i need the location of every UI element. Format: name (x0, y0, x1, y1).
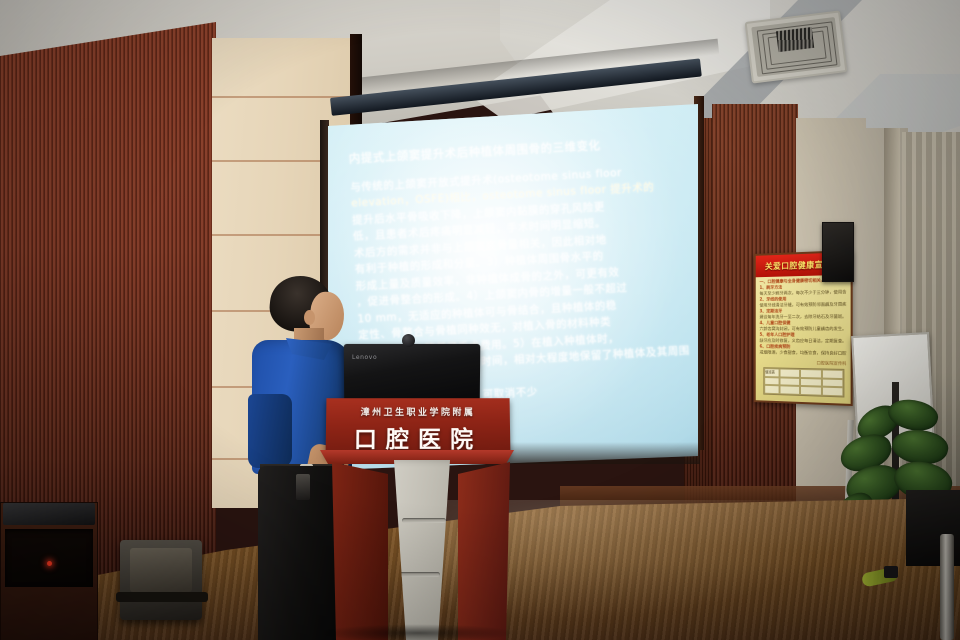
air-vent-icon (745, 10, 848, 83)
wall-panel-wood-left (0, 22, 216, 582)
podium-hospital-name: 口腔医院 (326, 420, 511, 454)
table-cell (800, 386, 821, 395)
presenter-ear (304, 310, 315, 325)
laptop-bag (120, 540, 202, 620)
microphone-head-icon (402, 334, 415, 347)
poster-signature: 口腔医院宣传科 (760, 359, 847, 367)
table-cell (764, 385, 779, 394)
podium-side-left (332, 462, 388, 640)
podium-side-right (458, 462, 510, 640)
power-led-icon (47, 561, 52, 566)
table-cell (780, 386, 801, 395)
poster-line: 戒烟限酒，少食甜食，均衡饮食，保持良好口腔卫生习惯。 (760, 350, 847, 357)
slide-heading: 内提式上颌窦提升术后种植体周围骨的三维变化 (348, 133, 680, 167)
poster-duty-table: 值班表 (763, 367, 844, 397)
poster-body: 一、口腔健康与全身健康密切相关，应定期检查。 1、刷牙方法 每天至少刷牙两次，每… (760, 277, 847, 369)
metal-pole (940, 534, 954, 640)
table-cell (822, 387, 844, 397)
av-shelf (5, 529, 93, 587)
presenter-sleeve (248, 394, 292, 468)
podium-floor-shadow (318, 624, 518, 640)
av-cabinet (0, 502, 98, 640)
podium: 漳州卫生职业学院附属 口腔医院 (318, 398, 514, 640)
bag-strap (116, 592, 208, 602)
podium-front-sign: 漳州卫生职业学院附属 口腔医院 (326, 398, 511, 456)
desktop-monitor: Lenovo (344, 344, 480, 406)
podium-center-panel (380, 460, 464, 640)
wall-speaker-icon (822, 222, 854, 282)
bag-front-pocket (130, 548, 192, 592)
podium-institution-name: 漳州卫生职业学院附属 (326, 405, 510, 418)
presentation-room-photo: 内提式上颌窦提升术后种植体周围骨的三维变化 与传统的上颌窦开放式提升术(oste… (0, 0, 960, 640)
av-device (3, 503, 95, 525)
presenter-belt-pouch (296, 474, 310, 500)
floor-plug (884, 566, 898, 578)
monitor-brand-label: Lenovo (352, 354, 377, 361)
